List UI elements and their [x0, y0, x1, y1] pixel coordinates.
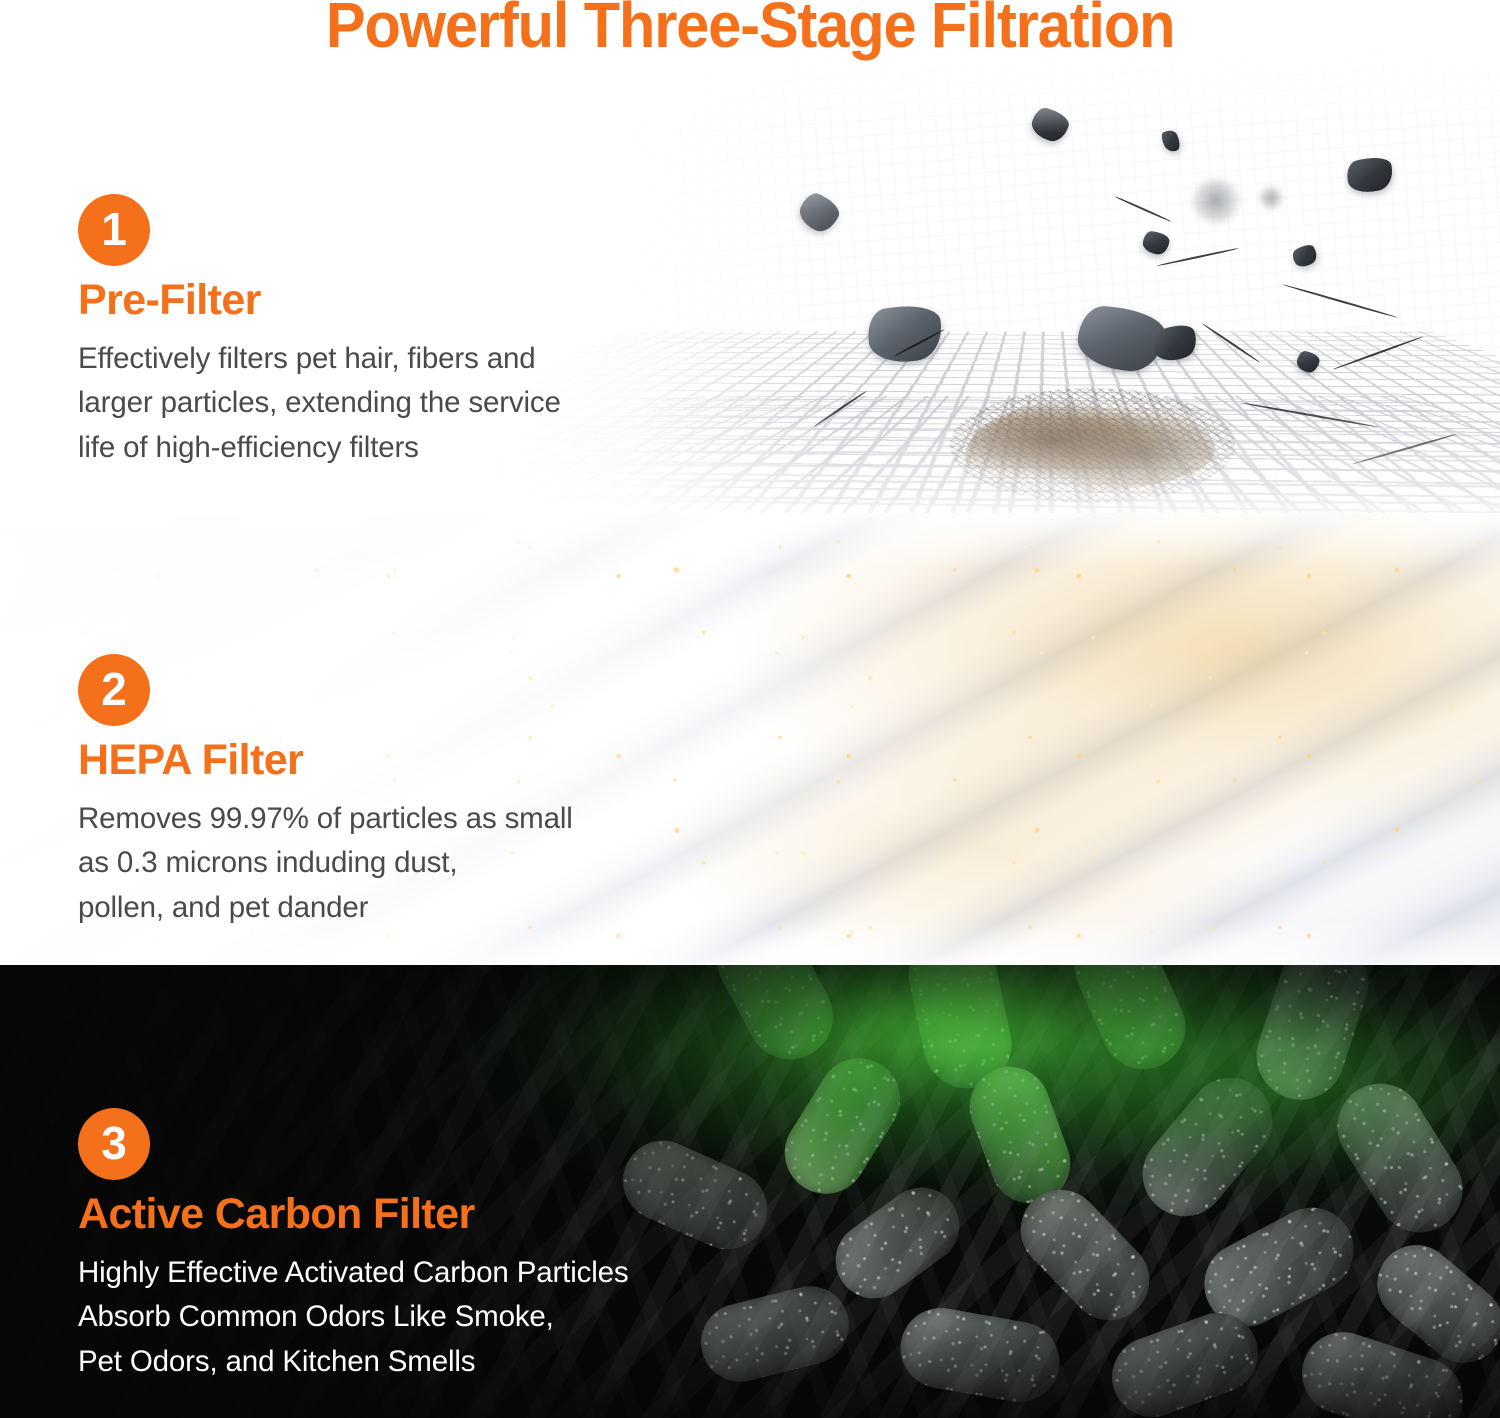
- product-infographic: Powerful Three-Stage Filtration 1 Pre-Fi…: [0, 0, 1500, 1418]
- stage-heading-pre-filter: Pre-Filter: [78, 278, 561, 323]
- description-line: larger particles, extending the service: [78, 381, 561, 425]
- description-line: Effectively filters pet hair, fibers and: [78, 337, 561, 381]
- stage-description-hepa-filter: Removes 99.97% of particles as small as …: [78, 797, 573, 930]
- stage-content-pre-filter: 1 Pre-Filter Effectively filters pet hai…: [78, 194, 561, 470]
- stage-heading-active-carbon-filter: Active Carbon Filter: [78, 1192, 629, 1237]
- description-line: Highly Effective Activated Carbon Partic…: [78, 1251, 629, 1295]
- stage-number-badge-3: 3: [78, 1108, 150, 1180]
- description-line: Absorb Common Odors Like Smoke,: [78, 1295, 629, 1339]
- stage-heading-hepa-filter: HEPA Filter: [78, 738, 573, 783]
- stage-number-badge-1: 1: [78, 194, 150, 266]
- description-line: as 0.3 microns induding dust,: [78, 841, 573, 885]
- description-line: life of high-efficiency filters: [78, 426, 561, 470]
- description-line: Pet Odors, and Kitchen Smells: [78, 1340, 629, 1384]
- stage-number-badge-2: 2: [78, 654, 150, 726]
- stage-content-hepa-filter: 2 HEPA Filter Removes 99.97% of particle…: [78, 654, 573, 930]
- description-line: Removes 99.97% of particles as small: [78, 797, 573, 841]
- stage-description-active-carbon-filter: Highly Effective Activated Carbon Partic…: [78, 1251, 629, 1384]
- description-line: pollen, and pet dander: [78, 886, 573, 930]
- stage-description-pre-filter: Effectively filters pet hair, fibers and…: [78, 337, 561, 470]
- stage-content-active-carbon-filter: 3 Active Carbon Filter Highly Effective …: [78, 1108, 629, 1384]
